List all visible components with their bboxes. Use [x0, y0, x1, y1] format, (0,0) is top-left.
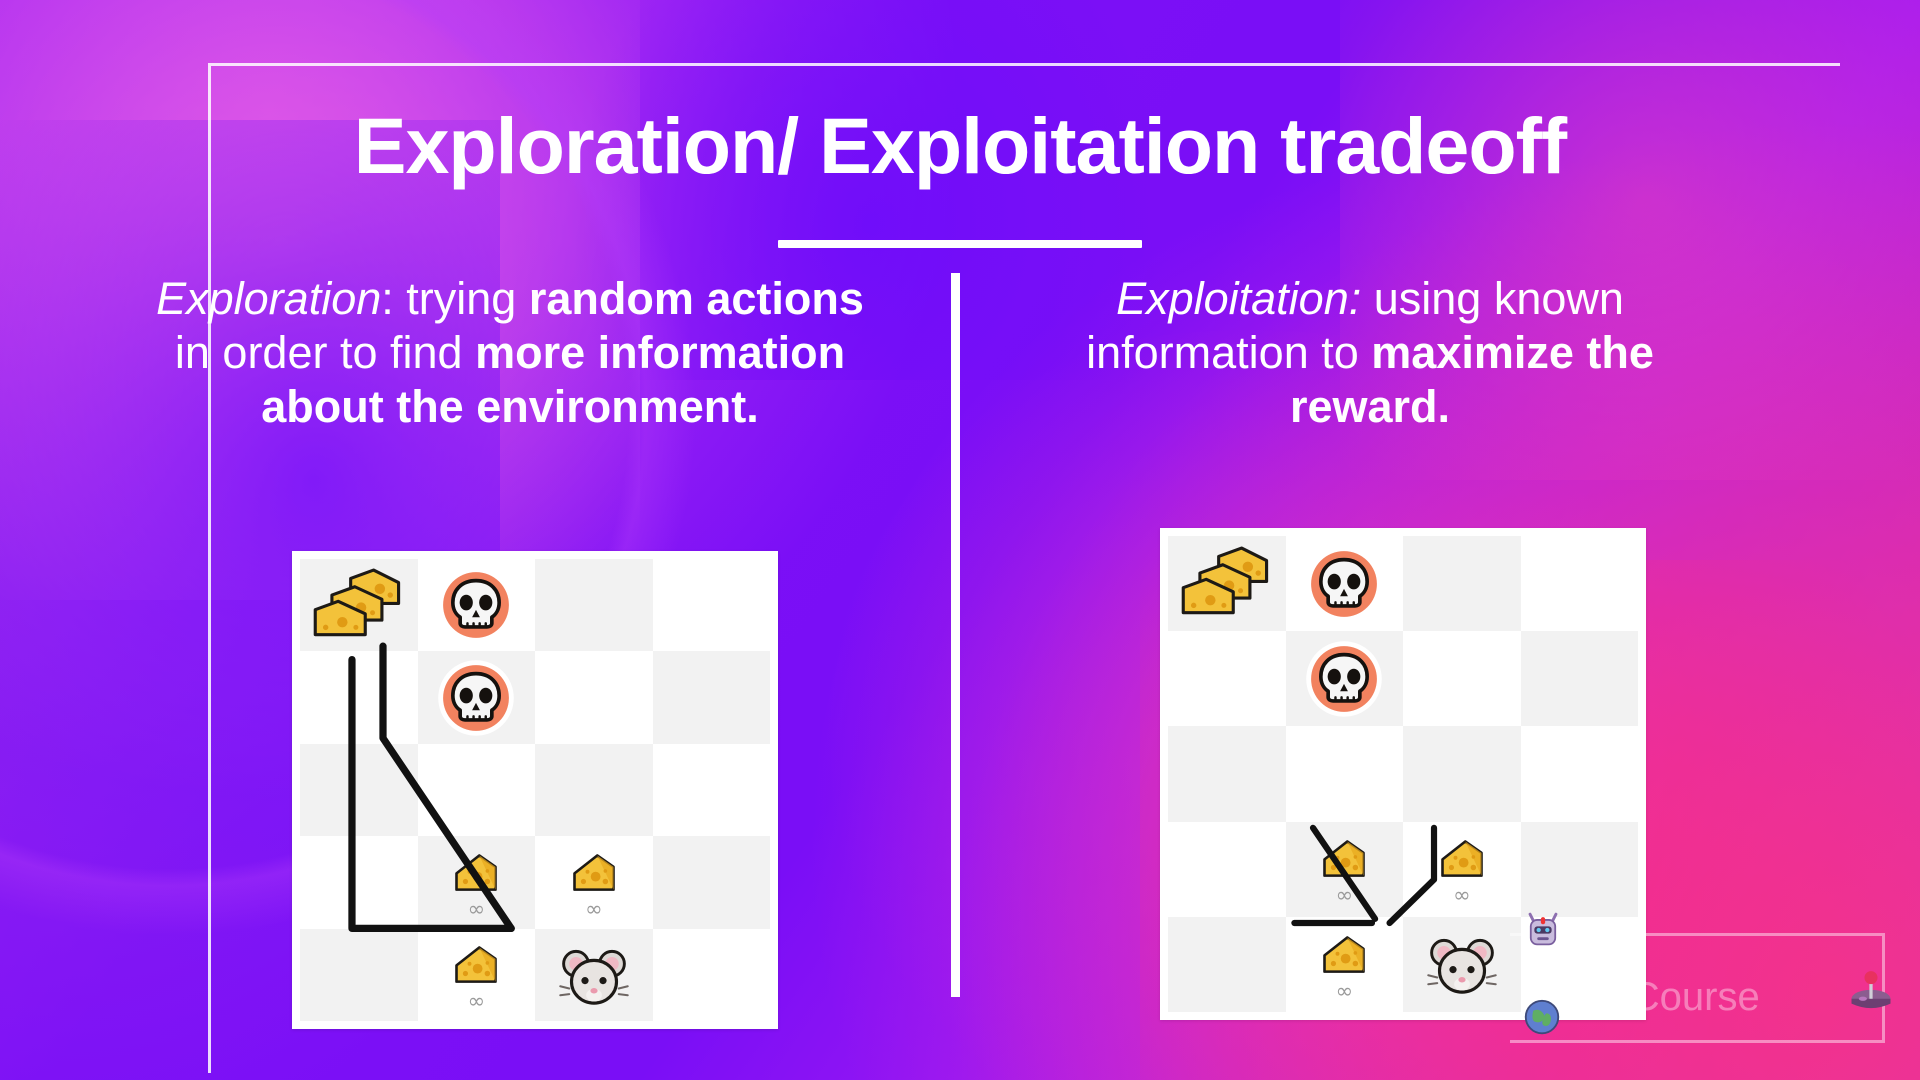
grid-cell-r1-c1 — [1286, 631, 1404, 726]
grid-cell-r2-c1 — [418, 744, 536, 836]
cheese-stack-icon — [1177, 546, 1277, 621]
grid-cell-r4-c3 — [653, 929, 771, 1021]
grid-cell-r0-c2 — [535, 559, 653, 651]
grid-cell-r0-c3 — [1521, 536, 1639, 631]
grid-cell-r0-c1 — [1286, 536, 1404, 631]
grid-cell-r0-c2 — [1403, 536, 1521, 631]
grid-cell-r1-c3 — [653, 651, 771, 743]
grid-cell-r4-c2 — [535, 929, 653, 1021]
grid-cell-r2-c0 — [1168, 726, 1286, 821]
grid-cell-r1-c0 — [1168, 631, 1286, 726]
exploration-column: Exploration: trying random actions in or… — [150, 272, 870, 434]
grid-cell-r0-c1 — [418, 559, 536, 651]
mouse-icon — [1426, 928, 1498, 1000]
grid-cell-r2-c2 — [535, 744, 653, 836]
cell-value-label: ∞ — [1336, 984, 1354, 999]
cheese-icon — [450, 849, 502, 901]
grid-cell-r4-c0 — [1168, 917, 1286, 1012]
grid-cell-r3-c3 — [1521, 822, 1639, 917]
grid-cell-r2-c3 — [1521, 726, 1639, 821]
cell-value-label: ∞ — [585, 902, 603, 917]
skull-icon — [437, 659, 515, 737]
grid-cell-r1-c3 — [1521, 631, 1639, 726]
exploration-text-1: trying — [406, 273, 529, 324]
grid-cell-r4-c1: ∞ — [1286, 917, 1404, 1012]
skull-icon — [1305, 545, 1383, 623]
grid-cell-r3-c2: ∞ — [535, 836, 653, 928]
grid-cell-r2-c0 — [300, 744, 418, 836]
grid-cell-r4-c1: ∞ — [418, 929, 536, 1021]
grid-cell-r1-c1 — [418, 651, 536, 743]
exploitation-grid: ∞∞∞ — [1160, 528, 1646, 1020]
cheese-icon — [1318, 835, 1370, 887]
skull-icon — [1305, 640, 1383, 718]
title-underline-rule — [778, 240, 1142, 248]
grid-cell-r0-c0 — [300, 559, 418, 651]
grid-cell-r3-c0 — [1168, 822, 1286, 917]
grid-cell-r3-c0 — [300, 836, 418, 928]
exploration-grid: ∞∞∞ — [292, 551, 778, 1029]
grid-cell-r0-c0 — [1168, 536, 1286, 631]
grid-cell-r3-c1: ∞ — [418, 836, 536, 928]
grid-cell-r1-c2 — [1403, 631, 1521, 726]
cheese-icon — [568, 849, 620, 901]
grid-cell-r3-c2: ∞ — [1403, 822, 1521, 917]
grid-cell-r3-c3 — [653, 836, 771, 928]
cell-value-label: ∞ — [1336, 888, 1354, 903]
page-title: Exploration/ Exploitation tradeoff — [0, 100, 1920, 192]
cell-value-label: ∞ — [468, 902, 486, 917]
exploration-text-2: in order to find — [175, 327, 475, 378]
grid-cell-r2-c3 — [653, 744, 771, 836]
grid-cell-r3-c1: ∞ — [1286, 822, 1404, 917]
cheese-icon — [450, 941, 502, 993]
skull-icon — [437, 566, 515, 644]
grid-cell-r4-c3 — [1521, 917, 1639, 1012]
grid-cell-r1-c0 — [300, 651, 418, 743]
exploration-term: Exploration — [156, 273, 381, 324]
grid-cell-r1-c2 — [535, 651, 653, 743]
exploitation-column: Exploitation: using known information to… — [1010, 272, 1730, 434]
cell-value-label: ∞ — [468, 994, 486, 1009]
exploration-grid-cells: ∞∞∞ — [300, 559, 770, 1021]
exploration-description: Exploration: trying random actions in or… — [150, 272, 870, 434]
exploitation-grid-cells: ∞∞∞ — [1168, 536, 1638, 1012]
exploration-colon: : — [381, 273, 406, 324]
mouse-icon — [558, 939, 630, 1011]
exploration-bold-1: random actions — [529, 273, 864, 324]
exploitation-description: Exploitation: using known information to… — [1010, 272, 1730, 434]
exploitation-term: Exploitation: — [1116, 273, 1361, 324]
grid-cell-r4-c2 — [1403, 917, 1521, 1012]
grid-cell-r0-c3 — [653, 559, 771, 651]
cheese-stack-icon — [309, 568, 409, 643]
grid-cell-r4-c0 — [300, 929, 418, 1021]
cheese-icon — [1318, 931, 1370, 983]
grid-cell-r2-c2 — [1403, 726, 1521, 821]
cheese-icon — [1436, 835, 1488, 887]
cell-value-label: ∞ — [1453, 888, 1471, 903]
grid-cell-r2-c1 — [1286, 726, 1404, 821]
